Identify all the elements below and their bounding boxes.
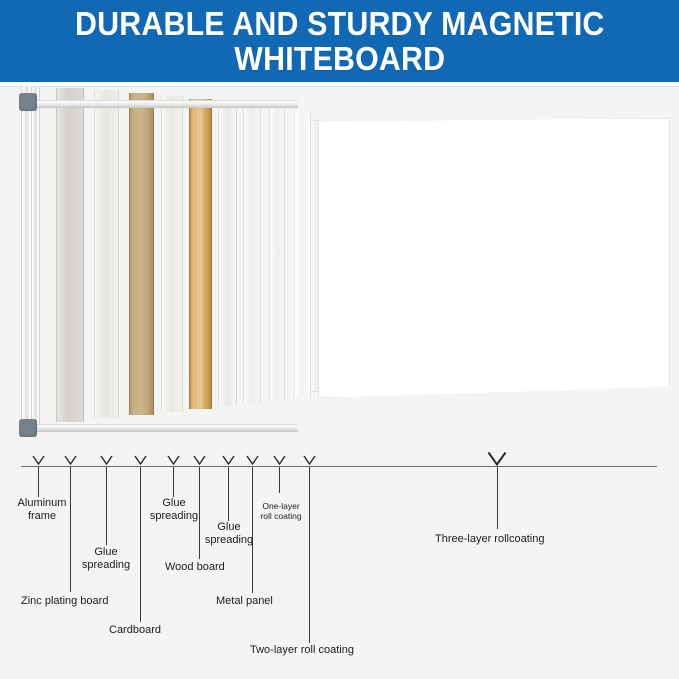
- chevron-down-icon: [246, 455, 259, 466]
- chevron-down-icon: [193, 455, 206, 466]
- callout-label-one-layer-roll-coating: One-layer roll coating: [257, 501, 305, 521]
- callout-label-glue-spreading-2: Glue spreading: [145, 497, 203, 523]
- callout-label-glue-spreading-1: Glue spreading: [77, 546, 135, 572]
- chevron-down-icon: [167, 455, 180, 466]
- product-infographic: DURABLE AND STURDY MAGNETIC WHITEBOARD: [0, 0, 679, 679]
- leader-line: [279, 467, 280, 493]
- chevron-down-icon: [222, 455, 235, 466]
- callout-label-cardboard: Cardboard: [109, 624, 161, 637]
- callout-label-metal-panel: Metal panel: [216, 595, 273, 608]
- leader-line: [173, 467, 174, 497]
- chevron-down-icon: [100, 455, 113, 466]
- leader-line: [70, 467, 71, 592]
- callout-label-wood-board: Wood board: [165, 561, 225, 574]
- callout-layer: Aluminum frame Zinc plating board Glue s…: [0, 0, 679, 679]
- callout-label-glue-spreading-3: Glue spreading: [200, 521, 258, 547]
- callout-baseline: [21, 466, 657, 467]
- callout-label-two-layer-roll-coating: Two-layer roll coating: [250, 644, 354, 657]
- leader-line: [228, 467, 229, 521]
- callout-label-three-layer-rollcoating: Three-layer rollcoating: [435, 533, 544, 546]
- leader-line: [497, 467, 498, 529]
- callout-label-zinc-plating-board: Zinc plating board: [21, 595, 108, 608]
- chevron-down-icon: [487, 451, 507, 467]
- leader-line: [38, 467, 39, 497]
- chevron-down-icon: [32, 455, 45, 466]
- leader-line: [106, 467, 107, 545]
- chevron-down-icon: [273, 455, 286, 466]
- chevron-down-icon: [303, 455, 316, 466]
- callout-label-aluminum-frame: Aluminum frame: [17, 497, 67, 523]
- leader-line: [309, 467, 310, 643]
- chevron-down-icon: [134, 455, 147, 466]
- leader-line: [140, 467, 141, 622]
- chevron-down-icon: [64, 455, 77, 466]
